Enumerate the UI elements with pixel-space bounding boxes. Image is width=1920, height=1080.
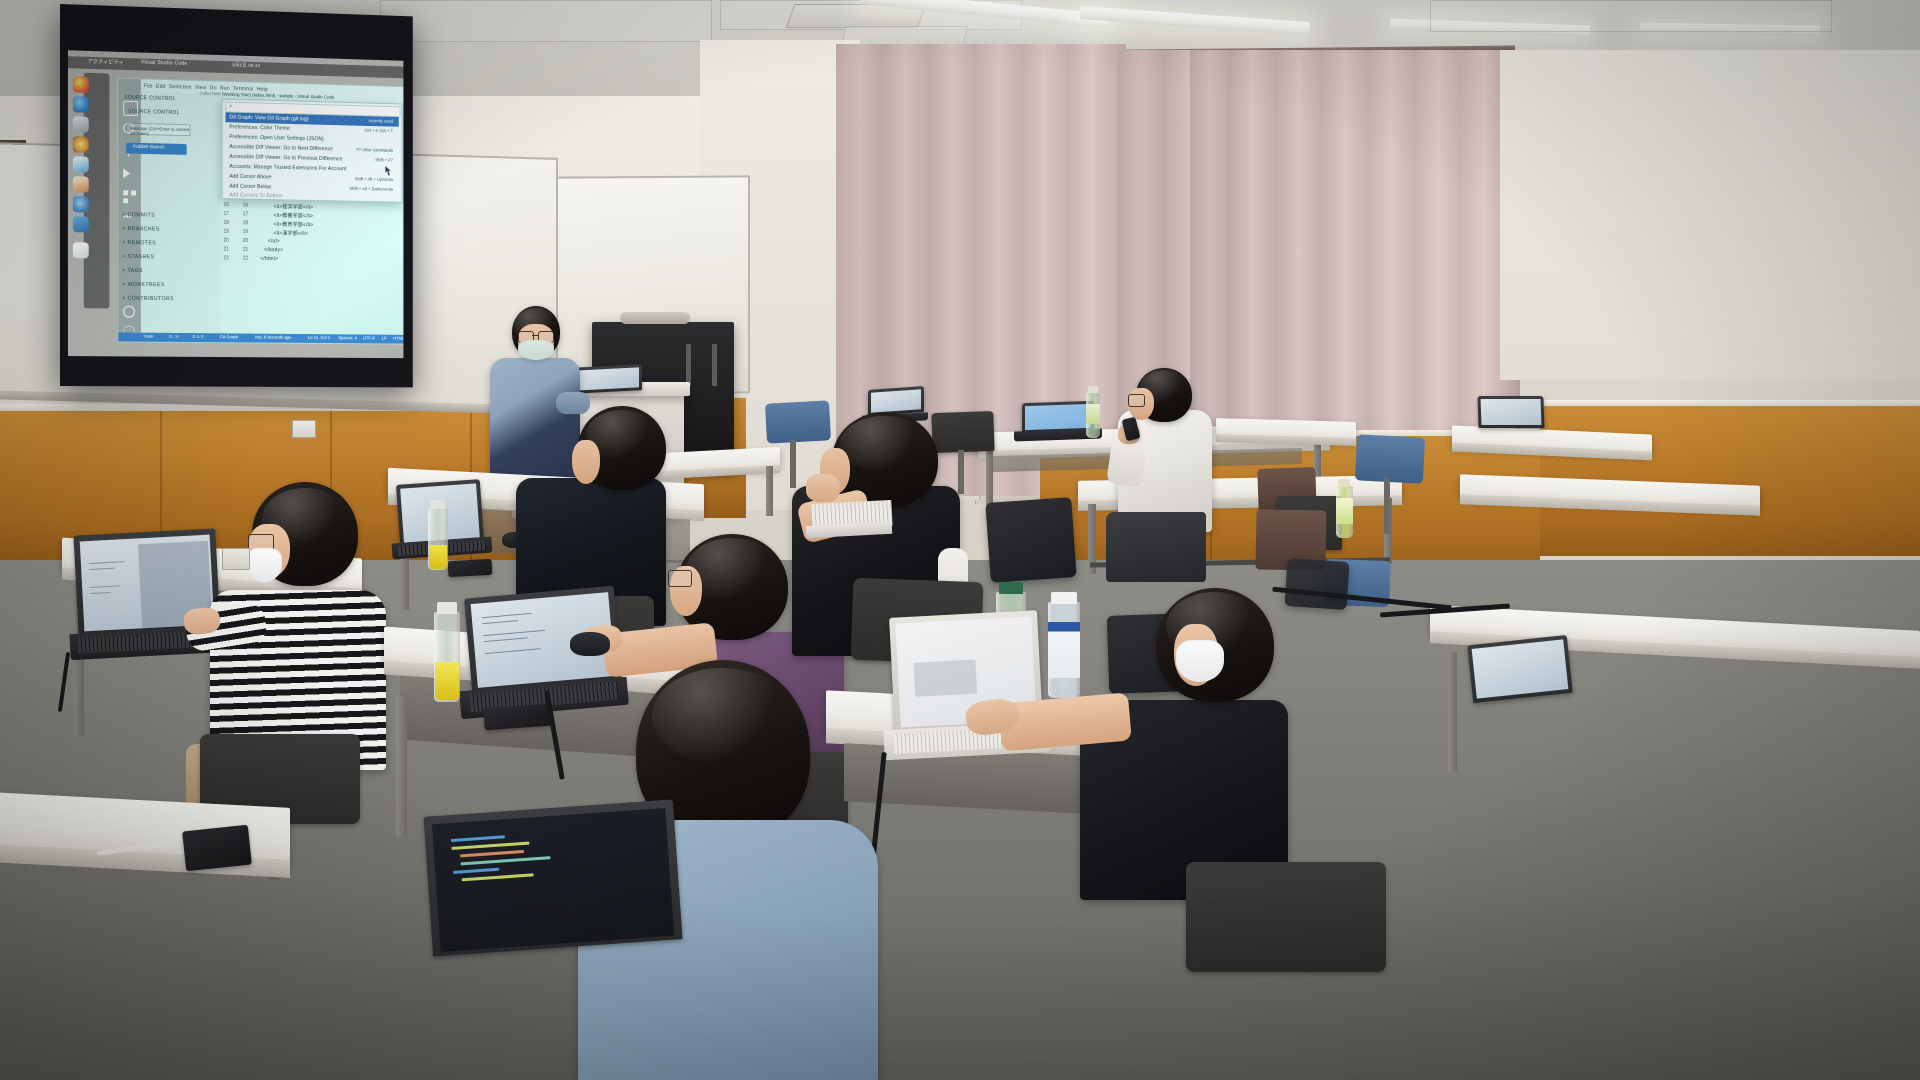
command-label: Accounts: Manage Trusted Extensions For … (229, 164, 346, 172)
line-number-new: 21 (243, 247, 248, 253)
command-label: Add Cursors To Bottom (229, 192, 282, 199)
line-number-new: 20 (243, 238, 248, 244)
command-label: Preferences: Color Theme (229, 124, 290, 131)
command-label: Add Cursor Below (229, 184, 271, 191)
command-palette[interactable]: > Git Graph: View Git Graph (git log) re… (222, 98, 403, 202)
sidebar-item-remotes[interactable]: > REMOTES (122, 240, 156, 246)
code-line (461, 856, 551, 865)
bottle-cap (437, 602, 457, 614)
code-line (451, 835, 505, 842)
laptop-right-edge-screen (1472, 639, 1569, 698)
command-key: Ctrl + K Ctrl + T (364, 128, 393, 134)
command-label: Preferences: Open User Settings (JSON) (229, 134, 323, 142)
screen-content-line (482, 613, 532, 619)
command-key: recently used (369, 118, 394, 124)
desk-leg (396, 696, 407, 836)
code-line: <li>漢字部</li> (274, 230, 309, 237)
sidebar-item-worktrees[interactable]: > WORKTREES (122, 282, 165, 288)
desk-leg (1448, 652, 1457, 772)
code-line (462, 873, 534, 881)
extensions-icon[interactable] (123, 190, 136, 203)
bottle-cap (1051, 592, 1077, 604)
phone-bottom-left[interactable] (182, 825, 252, 872)
student-striped-mask (246, 548, 282, 582)
ceiling-panel (1430, 0, 1832, 32)
line-number-new: 22 (243, 256, 248, 262)
line-number-old: 20 (224, 238, 229, 244)
terminal-icon[interactable] (73, 242, 89, 258)
status-history[interactable]: You, 8 seconds ago (254, 335, 291, 340)
ubuntu-software-icon[interactable] (73, 176, 89, 192)
hair-sheen (652, 668, 792, 764)
editor-diff-area: 16 16 <li>経済学部</li> 17 17 <li>教養学部</li> … (224, 202, 401, 270)
screen-content-line (89, 561, 125, 564)
accounts-icon[interactable] (123, 306, 135, 318)
bottle-cap (1338, 479, 1350, 487)
phone-on-desk[interactable] (448, 559, 493, 577)
bottle-cap (1088, 386, 1098, 393)
status-spaces[interactable]: Spaces: 4 (338, 336, 356, 341)
line-number-old: 18 (224, 220, 229, 226)
bottle-liquid (435, 662, 459, 700)
command-label: Accessible Diff Viewer: Go to Next Diffe… (229, 144, 333, 152)
student-masked-right-mask (1176, 640, 1224, 682)
screen-content-line (90, 585, 120, 588)
vscode-window: ••• File Edit Selection View Go Run Term… (117, 78, 403, 345)
status-language[interactable]: HTML (393, 336, 403, 341)
code-line: </html> (260, 256, 278, 262)
code-line: <li>教養学部</li> (274, 212, 314, 220)
student-white-shirt-legs (1106, 512, 1206, 582)
presenter-torso (490, 358, 580, 478)
sidebar-item-stashes[interactable]: > STASHES (122, 254, 154, 260)
thunderbird-icon[interactable] (73, 96, 89, 112)
chair-blue-right[interactable] (1355, 434, 1425, 483)
laptop-far-right-screen (1481, 399, 1542, 425)
laptop-foreground-screen (432, 808, 674, 952)
commit-message-input[interactable]: Message (Ctrl+Enter to commit on 'main') (126, 123, 190, 137)
libreoffice-writer-icon[interactable] (73, 156, 89, 172)
sidebar-item-contributors[interactable]: > CONTRIBUTORS (122, 296, 174, 303)
screen-content-line (485, 648, 541, 654)
cable-coil (620, 312, 690, 324)
bottle-liquid (429, 545, 447, 569)
student-navy-face (572, 440, 600, 484)
vscode-projection: アクティビティ Visual Studio Code 5月1日 08:42 (68, 50, 403, 358)
projector-screen: アクティビティ Visual Studio Code 5月1日 08:42 (60, 4, 413, 387)
code-line: </ul> (268, 238, 280, 244)
sidebar-item-tags[interactable]: > TAGS (122, 268, 143, 274)
status-eol[interactable]: LF (382, 336, 387, 341)
line-number-old: 22 (224, 255, 229, 261)
clock-label[interactable]: 5月1日 08:42 (232, 62, 260, 69)
desk-leg (766, 466, 773, 516)
student-black-tee-hand (806, 474, 840, 502)
chair-leg (1384, 478, 1390, 534)
command-key: Shift + F7 (375, 157, 393, 162)
laptop-back-1-screen (871, 389, 921, 412)
bottle-cap (430, 500, 445, 509)
line-number-new: 18 (243, 220, 248, 226)
phone-black[interactable] (483, 704, 552, 731)
help-icon[interactable] (73, 196, 89, 212)
line-number-old: 21 (224, 247, 229, 253)
command-label: Add Cursor Above (229, 174, 271, 181)
command-label: Git Graph: View Git Graph (git log) (229, 114, 308, 122)
line-number-new: 19 (243, 229, 248, 235)
wall-outlet[interactable] (292, 420, 316, 438)
wall-outlet[interactable] (222, 548, 250, 570)
chair-leg (958, 450, 964, 494)
line-number-old: 17 (224, 211, 229, 217)
line-number-new: 17 (243, 211, 248, 217)
screen-content-line (482, 620, 518, 625)
student-white-shirt-glasses (1128, 394, 1145, 407)
presenter-glasses-bridge (532, 335, 538, 336)
code-line (460, 850, 524, 857)
chair-blue-back[interactable] (765, 400, 831, 443)
screen-content-line (90, 592, 110, 594)
status-encoding[interactable]: UTF-8 (363, 336, 375, 341)
firefox-icon[interactable] (73, 76, 89, 92)
status-position[interactable]: Ln 11, Col 1 (308, 335, 330, 340)
commit-message-placeholder: Message (Ctrl+Enter to commit on 'main') (130, 126, 190, 137)
laptop-back-2-screen (1025, 404, 1091, 430)
command-key: F7 other commands (356, 147, 393, 153)
line-number-old: 16 (224, 202, 229, 208)
bottle-cap (999, 582, 1023, 594)
bottle-label (1086, 404, 1100, 424)
wall-right-white (1500, 50, 1920, 380)
sidebar-item-commits[interactable]: > COMMITS (122, 212, 155, 219)
desk-leg (986, 450, 993, 508)
code-line: <li>教育学部</li> (274, 221, 314, 229)
command-palette-value: > (229, 104, 232, 110)
files-icon[interactable] (73, 116, 89, 132)
run-debug-icon[interactable] (123, 168, 130, 178)
line-number-old: 19 (224, 229, 229, 235)
chair-masked-right[interactable] (1186, 862, 1386, 972)
screen-content-line (484, 637, 528, 642)
bag-far-right (1284, 558, 1349, 610)
code-line: <li>経済学部</li> (274, 203, 314, 211)
classroom-scene: アクティビティ Visual Studio Code 5月1日 08:42 (0, 0, 1920, 1080)
status-git-graph[interactable]: Git Graph (220, 335, 238, 340)
screen-content-line (483, 630, 545, 637)
hair-sheen (840, 416, 928, 472)
vscode-status-bar: main 0↓ 1↑ 0 ⚠ 0 Git Graph You, 8 second… (118, 332, 403, 343)
status-problems[interactable]: 0 ⚠ 0 (193, 334, 204, 340)
cabinet-handle (712, 344, 717, 386)
bottle-label (1336, 498, 1353, 524)
student-purple-glasses (668, 570, 692, 587)
status-branch[interactable]: main (144, 334, 153, 339)
presenter-arm (556, 392, 590, 414)
command-key: Shift + Alt + DownArrow (349, 186, 393, 192)
rhythmbox-icon[interactable] (73, 136, 89, 152)
mouse-cursor-icon (383, 164, 394, 179)
projected-image: アクティビティ Visual Studio Code 5月1日 08:42 (68, 50, 403, 358)
chair-leg (790, 440, 796, 488)
status-sync[interactable]: 0↓ 1↑ (169, 334, 179, 339)
cabinet-handle (686, 344, 691, 386)
sidebar-item-branches[interactable]: > BRANCHES (122, 226, 160, 233)
mouse-purple[interactable] (570, 632, 610, 656)
publish-branch-button[interactable]: Publish Branch (126, 143, 187, 155)
command-label: Accessible Diff Viewer: Go to Previous D… (229, 154, 342, 162)
vscode-activity-bar (118, 79, 141, 342)
code-line (451, 842, 529, 850)
publish-branch-label: Publish Branch (133, 145, 165, 151)
activities-label[interactable]: アクティビティ (88, 58, 124, 66)
presenter-laptop-screen (575, 367, 639, 390)
bottle-label-water (1048, 622, 1080, 678)
screen-content-line (89, 568, 115, 571)
code-line: </body> (264, 247, 283, 253)
vscode-icon[interactable] (73, 216, 89, 232)
chair-back[interactable] (931, 411, 994, 453)
backpack (985, 497, 1076, 583)
code-line (453, 868, 499, 874)
line-number-new: 16 (243, 203, 248, 209)
screen-window (913, 659, 977, 696)
presenter-face-mask (518, 340, 554, 360)
ceiling-panel (380, 0, 712, 42)
